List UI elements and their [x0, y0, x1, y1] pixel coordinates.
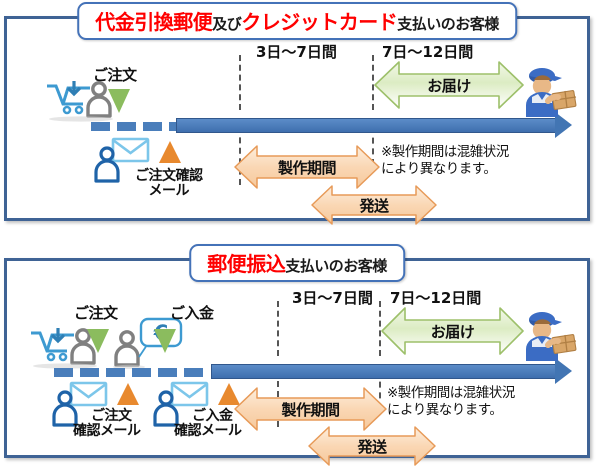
payment-panel-postal-transfer: 郵便振込支払いのお客様 3日～7日間 7日～12日間 ご注文	[4, 258, 590, 458]
event-label-order-p1: ご注文	[93, 67, 137, 83]
day-label-production-p2: 3日～7日間	[292, 287, 373, 308]
timeline-dash-3-p2	[106, 368, 125, 377]
event-label-order-confirm-line1-p2: ご注文	[91, 408, 132, 424]
event-label-order-confirm-p2: ご注文 確認メール	[91, 409, 141, 439]
title-part-postal-transfer: 郵便振込	[207, 252, 285, 276]
payment-panel-cod-creditcard: 代金引換郵便及びクレジットカード支払いのお客様 3日～7日間 7日～12日間 ご…	[4, 16, 590, 221]
event-label-order-confirm-line2-p2: 確認メール	[73, 424, 141, 439]
event-label-payment-confirm-line2-p2: 確認メール	[174, 424, 242, 439]
timeline-dash-1-p2	[54, 368, 73, 377]
title-part-creditcard: クレジットカード	[241, 10, 397, 34]
event-label-payment-p2: ご入金	[170, 305, 214, 321]
orange-up-triangle-order-mail-p2	[117, 383, 139, 405]
divider-production-start-p1	[239, 55, 241, 110]
green-down-triangle-order-p2	[87, 329, 109, 353]
timeline-dash-6-p2	[184, 368, 203, 377]
timeline-dash-4-p2	[132, 368, 151, 377]
production-note-p1: ※製作期間は混雑状況 により異なります。	[381, 144, 509, 178]
title-part-customer-p2: 支払いのお客様	[285, 257, 387, 275]
day-label-production-p1: 3日～7日間	[256, 41, 337, 62]
title-part-and: 及び	[212, 15, 241, 33]
delivery-person-icon-p2	[520, 311, 582, 363]
timeline-dash-2-p2	[80, 368, 99, 377]
panel-title-cod-creditcard: 代金引換郵便及びクレジットカード支払いのお客様	[77, 2, 517, 40]
divider-production-start-p2	[277, 301, 279, 356]
timeline-dash-2-p1	[117, 122, 136, 131]
delivery-arrow-p2: お届け	[380, 305, 525, 357]
green-down-triangle-order-p1	[108, 89, 130, 113]
event-label-payment-confirm-line1-p2: ご入金	[192, 408, 233, 424]
delivery-arrow-p1: お届け	[373, 59, 525, 111]
green-down-triangle-payment-p2	[154, 329, 176, 353]
timeline-bar-p1	[176, 118, 559, 133]
timeline-dash-3-p1	[143, 122, 162, 131]
panel-title-postal-transfer: 郵便振込支払いのお客様	[189, 244, 405, 282]
timeline-bar-p2	[211, 364, 559, 379]
title-part-customer: 支払いのお客様	[397, 15, 499, 33]
production-note-p2: ※製作期間は混雑状況 により異なります。	[387, 385, 515, 419]
title-part-cod: 代金引換郵便	[95, 10, 212, 34]
event-label-order-p2: ご注文	[74, 305, 118, 321]
event-label-order-confirm-line1-p1: ご注文確認	[135, 168, 203, 184]
orange-up-triangle-mail-p1	[159, 141, 181, 163]
event-label-order-confirm-line2-p1: メール	[135, 184, 203, 199]
timeline-dash-1-p1	[91, 122, 110, 131]
shipping-arrow-p2: 発送	[307, 424, 437, 468]
shipping-arrow-p1: 発送	[310, 183, 438, 227]
event-label-order-confirm-p1: ご注文確認 メール	[135, 169, 203, 199]
timeline-dash-5-p2	[158, 368, 177, 377]
delivery-person-icon-p1	[520, 67, 582, 119]
